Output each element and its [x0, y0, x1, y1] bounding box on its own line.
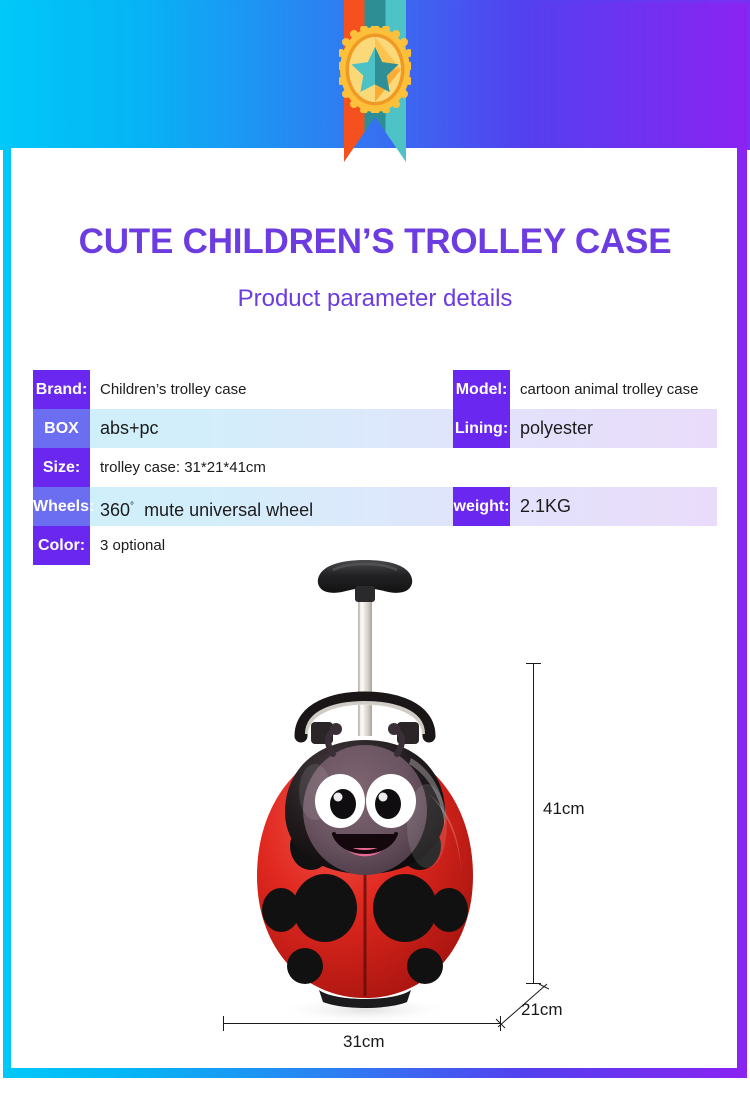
width-dimension-label: 31cm: [343, 1032, 385, 1052]
table-row: Size: trolley case: 31*21*41cm: [33, 448, 717, 487]
param-label-model: Model:: [453, 370, 510, 409]
wheels-description: mute universal wheel: [144, 500, 313, 520]
param-value-brand: Children’s trolley case: [100, 370, 246, 409]
param-value-model: cartoon animal trolley case: [520, 370, 698, 409]
param-label-weight: weight:: [453, 487, 510, 526]
width-dimension-cap-left: [223, 1016, 224, 1031]
product-detail-page: CUTE CHILDREN’S TROLLEY CASE Product par…: [0, 0, 750, 1098]
height-dimension-line: [533, 663, 534, 983]
param-label-lining: Lining:: [453, 409, 510, 448]
param-value-box: abs+pc: [100, 409, 159, 448]
param-label-size: Size:: [33, 448, 90, 487]
param-value-lining: polyester: [520, 409, 593, 448]
product-image: [215, 558, 515, 1028]
param-label-wheels: Wheels:: [33, 487, 90, 526]
height-dimension-label: 41cm: [543, 799, 585, 819]
degree-sign-icon: °: [130, 501, 134, 512]
param-value-weight: 2.1KG: [520, 487, 571, 526]
param-label-color: Color:: [33, 526, 90, 565]
page-title: CUTE CHILDREN’S TROLLEY CASE: [0, 222, 750, 262]
param-label-box: BOX: [33, 409, 90, 448]
depth-dimension-label: 21cm: [521, 1000, 563, 1020]
height-dimension-cap-top: [526, 663, 541, 664]
param-label-brand: Brand:: [33, 370, 90, 409]
page-subtitle: Product parameter details: [0, 285, 750, 313]
table-row: BOX abs+pc Lining: polyester: [33, 409, 717, 448]
param-value-color: 3 optional: [100, 526, 165, 565]
table-row: Brand: Children’s trolley case Model: ca…: [33, 370, 717, 409]
param-value-wheels: 360° mute universal wheel: [100, 487, 313, 526]
wheels-degrees-number: 360: [100, 500, 130, 520]
param-value-size: trolley case: 31*21*41cm: [100, 448, 266, 487]
table-row: Wheels: 360° mute universal wheel weight…: [33, 487, 717, 526]
parameter-table: Brand: Children’s trolley case Model: ca…: [33, 370, 717, 565]
award-badge: [322, 0, 428, 175]
medal-icon: [339, 26, 411, 113]
width-dimension-line: [223, 1023, 501, 1024]
